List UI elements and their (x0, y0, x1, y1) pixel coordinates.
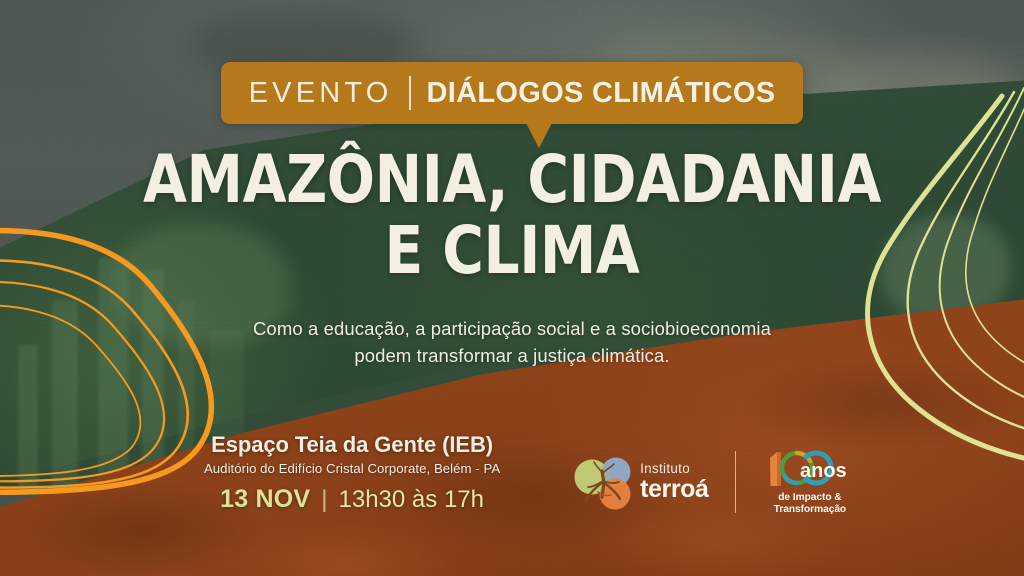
event-time: 13h30 às 17h (339, 486, 484, 514)
subtitle-line-1: Como a educação, a participação social e… (0, 316, 1024, 343)
terroa-name: terroá (640, 477, 708, 502)
event-date: 13 NOV (220, 485, 310, 514)
event-datetime: 13 NOV | 13h30 às 17h (166, 485, 538, 514)
anos-word: anos (800, 460, 847, 482)
page-subtitle: Como a educação, a participação social e… (0, 316, 1024, 370)
venue-address: Auditório do Edifício Cristal Corporate,… (166, 461, 538, 476)
datetime-separator: | (321, 486, 327, 514)
banner-separator (409, 76, 411, 110)
subtitle-line-2: podem transformar a justiça climática. (0, 343, 1024, 370)
title-line-1: AMAZÔNIA, CIDADANIA (72, 148, 953, 211)
terroa-prefix: Instituto (640, 462, 708, 476)
event-banner: EVENTO DIÁLOGOS CLIMÁTICOS (221, 62, 803, 124)
logo-group: Instituto terroá anos (574, 448, 858, 516)
anos-mark-icon: anos (762, 448, 858, 488)
venue-block: Espaço Teia da Gente (IEB) Auditório do … (166, 432, 538, 514)
title-line-2: E CLIMA (72, 219, 953, 282)
page-title: AMAZÔNIA, CIDADANIA E CLIMA (0, 148, 1024, 283)
logo-instituto-terroa: Instituto terroá (574, 451, 708, 513)
banner-eyebrow: EVENTO (249, 77, 409, 110)
banner-title: DIÁLOGOS CLIMÁTICOS (411, 77, 776, 110)
anos-subtitle-line-1: de Impacto & (778, 492, 841, 503)
anos-subtitle: de Impacto & Transformação (774, 492, 846, 516)
event-poster: EVENTO DIÁLOGOS CLIMÁTICOS AMAZÔNIA, CID… (0, 0, 1024, 576)
logo-divider (735, 451, 736, 513)
poster-footer: Espaço Teia da Gente (IEB) Auditório do … (0, 430, 1024, 516)
banner-bar: EVENTO DIÁLOGOS CLIMÁTICOS (221, 62, 803, 124)
terroa-mark-icon (574, 451, 632, 513)
anos-subtitle-line-2: Transformação (774, 504, 846, 515)
logo-10-anos: anos de Impacto & Transformação (762, 448, 858, 516)
terroa-wordmark: Instituto terroá (640, 462, 708, 502)
venue-name: Espaço Teia da Gente (IEB) (166, 432, 538, 458)
